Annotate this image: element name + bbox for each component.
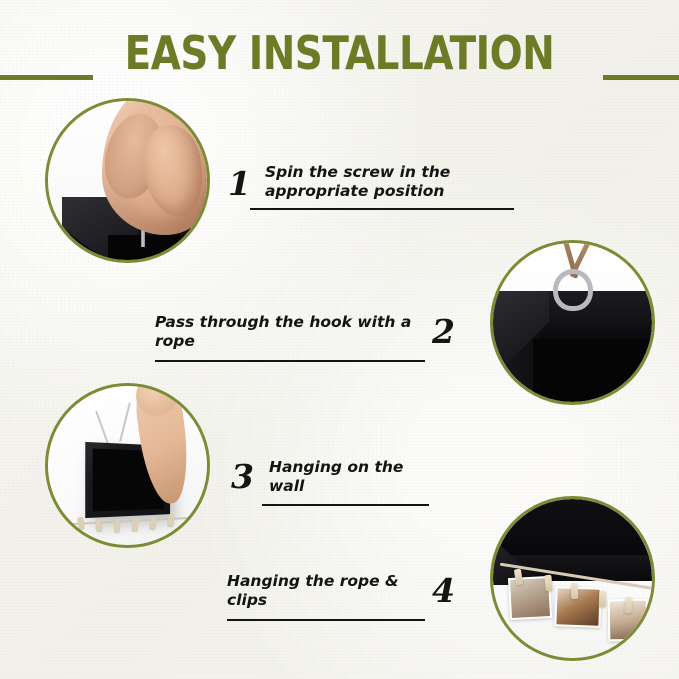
step-3-text: Hanging on the wall bbox=[269, 458, 441, 496]
clip bbox=[96, 519, 103, 531]
metal-ring bbox=[553, 269, 593, 311]
step-1-text: Spin the screw in the appropriate positi… bbox=[265, 163, 518, 201]
clip bbox=[77, 517, 84, 530]
black-frame-inner-edge bbox=[533, 339, 652, 402]
clip bbox=[132, 519, 139, 531]
header: EASY INSTALLATION bbox=[0, 24, 679, 82]
step-4-photo bbox=[490, 496, 655, 661]
step-4-text: Hanging the rope & clips bbox=[227, 572, 416, 610]
clip bbox=[544, 575, 552, 592]
step-1-number: 1 bbox=[228, 167, 251, 202]
step-2-row: Pass through the hook with a rope 2 bbox=[155, 313, 455, 351]
step-1-photo-inner bbox=[48, 101, 207, 260]
step-2-photo bbox=[490, 240, 655, 405]
step-3-number: 3 bbox=[231, 460, 254, 495]
clip bbox=[114, 520, 120, 532]
black-frame-inner-edge bbox=[108, 235, 207, 260]
step-4-underline bbox=[227, 619, 425, 621]
step-4-photo-inner bbox=[493, 499, 652, 658]
step-1-underline bbox=[250, 208, 514, 210]
step-4-block: Hanging the rope & clips 4 bbox=[227, 572, 455, 621]
step-3-row: 3 Hanging on the wall bbox=[231, 458, 441, 496]
clip bbox=[599, 591, 607, 607]
step-2-block: Pass through the hook with a rope 2 bbox=[155, 313, 455, 362]
clip bbox=[571, 583, 579, 599]
step-1-block: 1 Spin the screw in the appropriate posi… bbox=[228, 163, 518, 210]
step-3-photo-inner bbox=[48, 386, 207, 545]
step-2-underline bbox=[155, 360, 425, 362]
page-title: EASY INSTALLATION bbox=[20, 24, 658, 82]
step-3-photo bbox=[45, 383, 210, 548]
step-1-photo bbox=[45, 98, 210, 263]
step-1-row: 1 Spin the screw in the appropriate posi… bbox=[228, 163, 518, 202]
step-2-text: Pass through the hook with a rope bbox=[155, 313, 416, 351]
header-rule-right bbox=[603, 75, 679, 80]
step-3-block: 3 Hanging on the wall bbox=[231, 458, 441, 506]
clip bbox=[624, 597, 632, 614]
step-4-number: 4 bbox=[432, 574, 455, 609]
step-4-row: Hanging the rope & clips 4 bbox=[227, 572, 455, 610]
step-2-photo-inner bbox=[493, 243, 652, 402]
clip bbox=[149, 517, 156, 530]
step-2-number: 2 bbox=[432, 315, 455, 350]
step-3-underline bbox=[262, 504, 429, 506]
